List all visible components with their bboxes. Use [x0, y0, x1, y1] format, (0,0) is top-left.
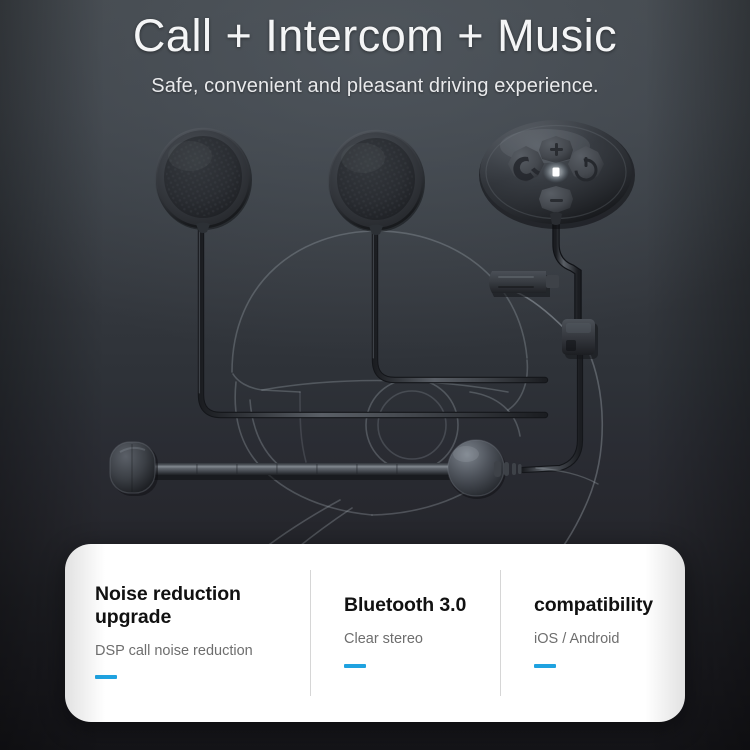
- control-module[interactable]: [479, 120, 635, 229]
- cable-junction-box: [562, 319, 598, 359]
- speaker-pad-left: [156, 129, 252, 233]
- feature-column-bluetooth-version: Bluetooth 3.0 Clear stereo: [310, 544, 500, 722]
- status-led: [543, 161, 569, 183]
- feature-title: Bluetooth 3.0: [344, 594, 500, 618]
- feature-title: compatibility: [534, 594, 685, 618]
- feature-card: Noise reduction upgrade DSP call noise r…: [65, 544, 685, 722]
- accent-dash: [344, 664, 366, 668]
- microphone-boom: [110, 440, 522, 499]
- page-title: Call + Intercom + Music: [0, 10, 750, 62]
- page-subtitle: Safe, convenient and pleasant driving ex…: [0, 75, 750, 98]
- header: Call + Intercom + Music Safe, convenient…: [0, 0, 750, 98]
- microphone-head: [110, 442, 158, 496]
- product-poster: Call + Intercom + Music Safe, convenient…: [0, 0, 750, 750]
- usb-charge-connector: [489, 271, 559, 297]
- feature-subtitle: iOS / Android: [534, 631, 685, 648]
- feature-subtitle: Clear stereo: [344, 631, 500, 648]
- speaker-pad-right: [329, 131, 425, 235]
- feature-title: Noise reduction upgrade: [95, 583, 280, 631]
- accent-dash: [95, 675, 117, 679]
- feature-subtitle: DSP call noise reduction: [95, 643, 310, 660]
- feature-column-compatibility: compatibility iOS / Android: [500, 544, 685, 722]
- helmet-outline: [230, 231, 527, 590]
- accent-dash: [534, 664, 556, 668]
- feature-column-noise-reduction: Noise reduction upgrade DSP call noise r…: [65, 544, 310, 722]
